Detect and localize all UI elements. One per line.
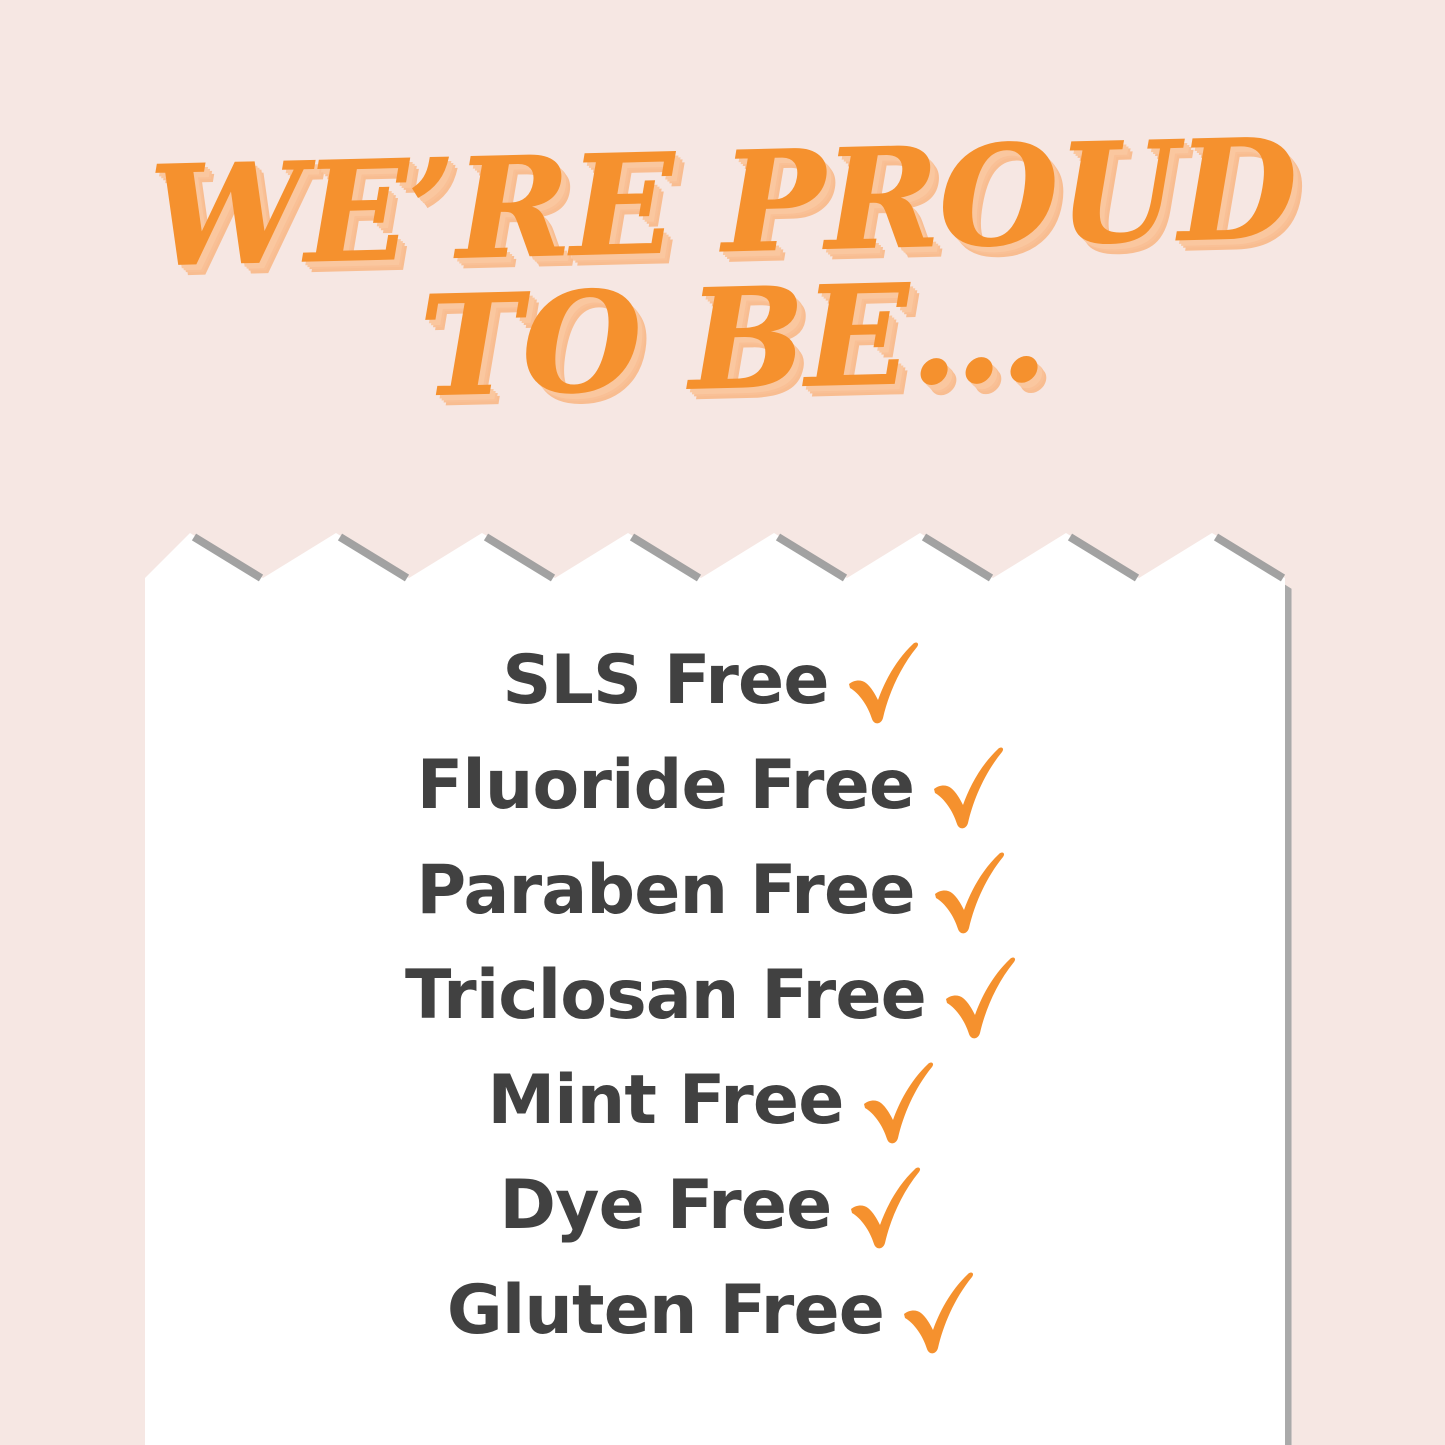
- list-item: Mint Free: [135, 1048, 1290, 1153]
- claim-label: Gluten Free: [447, 1277, 884, 1345]
- claim-label: Fluoride Free: [417, 752, 914, 820]
- headline-line-1: WE’RE PROUD: [148, 120, 1298, 286]
- list-item: Dye Free: [135, 1153, 1290, 1258]
- checkmark-icon: [900, 1266, 978, 1356]
- checkmark-icon: [931, 846, 1009, 936]
- checkmark-icon: [930, 741, 1008, 831]
- list-item: SLS Free: [135, 628, 1290, 733]
- list-item: Gluten Free: [135, 1258, 1290, 1363]
- checkmark-icon: [845, 636, 923, 726]
- claim-label: Triclosan Free: [405, 962, 926, 1030]
- claim-label: Mint Free: [487, 1067, 843, 1135]
- checkmark-icon: [942, 951, 1020, 1041]
- list-item: Fluoride Free: [135, 733, 1290, 838]
- checkmark-icon: [860, 1056, 938, 1146]
- headline-block: WE’RE PROUD TO BE…: [0, 0, 1445, 470]
- list-item: Paraben Free: [135, 838, 1290, 943]
- headline-line-2: TO BE…: [418, 263, 1048, 416]
- list-item: Triclosan Free: [135, 943, 1290, 1048]
- claims-list: SLS Free Fluoride Free Paraben Free Tric…: [145, 628, 1300, 1398]
- claim-label: Dye Free: [500, 1172, 832, 1240]
- claim-label: Paraben Free: [416, 857, 914, 925]
- claim-label: SLS Free: [502, 647, 828, 715]
- checkmark-icon: [847, 1161, 925, 1251]
- poster-canvas: WE’RE PROUD TO BE…: [0, 0, 1445, 1445]
